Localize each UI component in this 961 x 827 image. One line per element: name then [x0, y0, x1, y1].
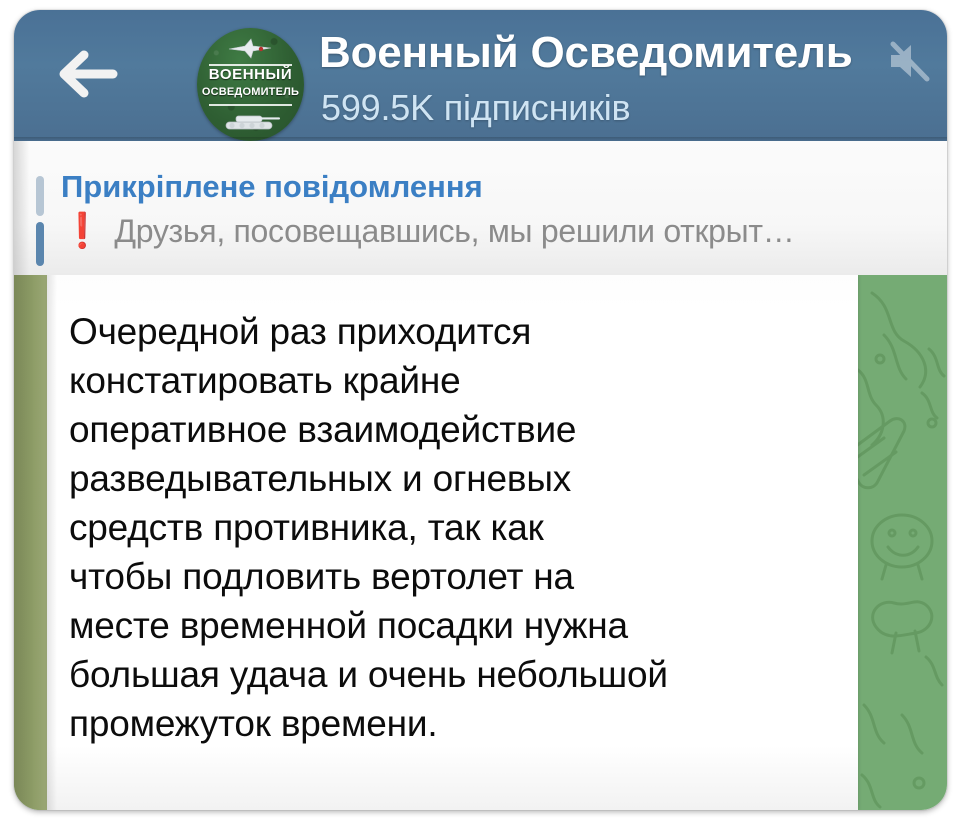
mute-speaker-icon[interactable]: [885, 38, 933, 84]
pinned-excerpt-row: ❗ Друзья, посовещавшись, мы решили откры…: [61, 213, 794, 250]
tank-icon: [220, 108, 282, 134]
subscriber-count: 599.5K підписників: [321, 87, 630, 129]
avatar[interactable]: ВОЕННЫЙ ОСВЕДОМИТЕЛЬ: [197, 28, 304, 141]
pinned-accent-bar-top: [36, 176, 44, 216]
message-text: Очередной раз приходится констатировать …: [69, 307, 859, 748]
exclamation-icon: ❗: [61, 214, 103, 248]
chat-area: Очередной раз приходится констатировать …: [14, 275, 947, 810]
wallpaper-left-strip-shade: [14, 275, 47, 810]
jet-icon: [225, 37, 277, 61]
telegram-channel-screenshot: ВОЕННЫЙ ОСВЕДОМИТЕЛЬ Военный Осведомител…: [14, 10, 947, 810]
avatar-divider-bottom: [209, 104, 292, 106]
pinned-message[interactable]: Прикріплене повідомлення ❗ Друзья, посов…: [14, 141, 947, 275]
back-arrow-icon[interactable]: [58, 50, 120, 98]
channel-header: ВОЕННЫЙ ОСВЕДОМИТЕЛЬ Военный Осведомител…: [14, 10, 947, 141]
pinned-accent-bar-bottom: [36, 222, 44, 266]
page-title: Военный Осведомитель: [319, 28, 929, 78]
pinned-message-excerpt: Друзья, посовещавшись, мы решили открыт…: [114, 213, 794, 250]
avatar-line2: ОСВЕДОМИТЕЛЬ: [197, 86, 304, 98]
pinned-message-label: Прикріплене повідомлення: [61, 169, 483, 205]
avatar-line1: ВОЕННЫЙ: [197, 66, 304, 83]
message-bubble[interactable]: Очередной раз приходится констатировать …: [47, 275, 858, 810]
